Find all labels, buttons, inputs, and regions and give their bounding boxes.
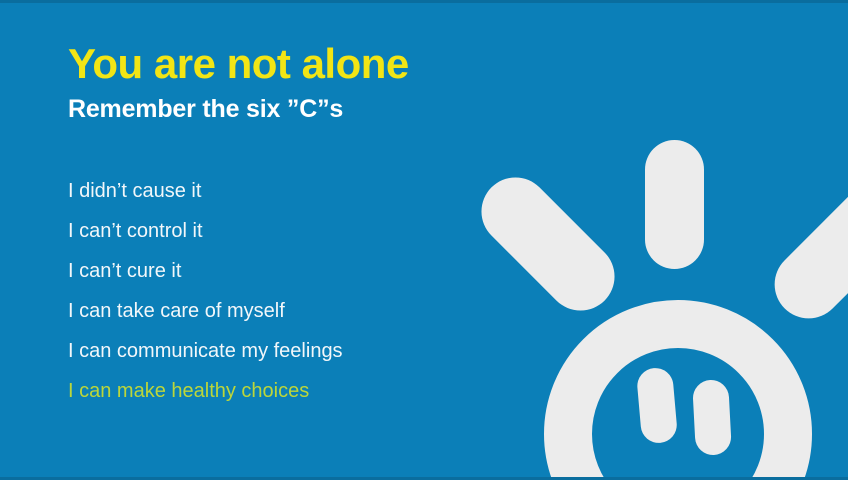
- slide-canvas: You are not alone Remember the six ”C”s …: [0, 0, 848, 480]
- palm-ring-icon: [568, 324, 788, 480]
- six-cs-list: I didn’t cause it I can’t control it I c…: [68, 171, 538, 411]
- list-item: I can take care of myself: [68, 291, 538, 331]
- text-block: You are not alone Remember the six ”C”s …: [68, 42, 538, 411]
- page-subtitle: Remember the six ”C”s: [68, 96, 538, 124]
- list-item: I can’t control it: [68, 211, 538, 251]
- list-item: I can communicate my feelings: [68, 331, 538, 371]
- page-title: You are not alone: [68, 42, 538, 86]
- finger-right-icon: [761, 166, 848, 333]
- slide-top-edge-rule: [0, 0, 848, 3]
- inner-bar-left-icon: [636, 367, 678, 445]
- finger-center-icon: [645, 140, 704, 269]
- list-item: I didn’t cause it: [68, 171, 538, 211]
- list-item: I can’t cure it: [68, 251, 538, 291]
- inner-bar-right-icon: [692, 379, 732, 456]
- list-item: I can make healthy choices: [68, 371, 538, 411]
